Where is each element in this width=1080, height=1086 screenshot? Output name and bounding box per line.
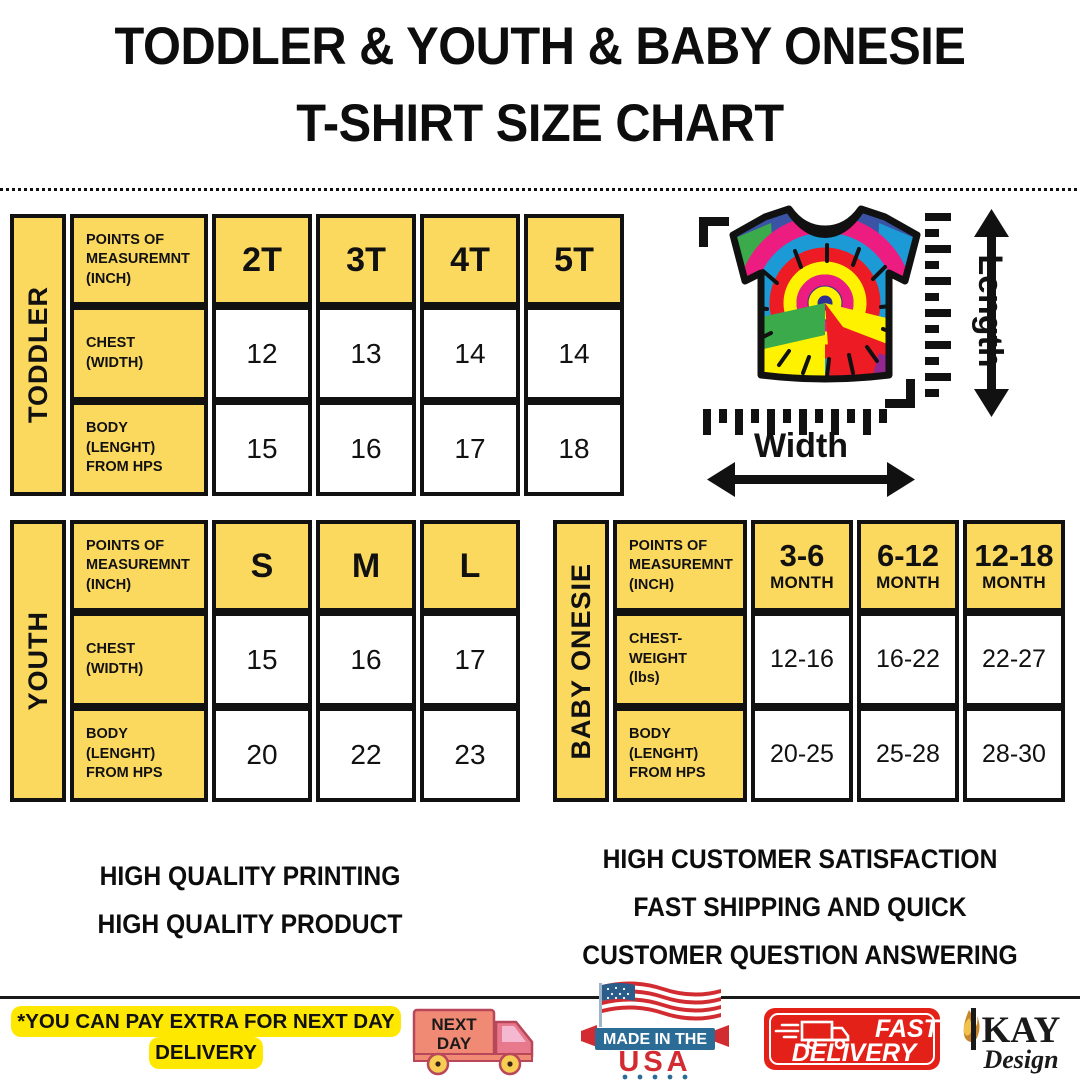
toddler-size-header-2t: 2T	[212, 214, 312, 306]
table-row: CHEST (WIDTH) 15 16 17	[70, 612, 524, 707]
row-label-line-2: (WIDTH)	[86, 354, 143, 373]
next-day-note: *YOU CAN PAY EXTRA FOR NEXT DAY DELIVERY	[4, 1006, 408, 1069]
baby-size-header-3-6: 3-6 MONTH	[751, 520, 853, 612]
toddler-row-label-chest: CHEST (WIDTH)	[70, 306, 208, 401]
youth-size-header-l: L	[420, 520, 520, 612]
measure-line-3: (INCH)	[86, 576, 131, 595]
promo-left-line-2: HIGH QUALITY PRODUCT	[18, 900, 483, 948]
toddler-body-2t: 15	[212, 401, 312, 496]
promo-left-line-1: HIGH QUALITY PRINTING	[18, 852, 483, 900]
baby-row-label-body: BODY (LENGHT) FROM HPS	[613, 707, 747, 802]
baby-grid: POINTS OF MEASUREMNT (INCH) 3-6 MONTH 6-…	[613, 520, 1069, 802]
truck-badge-line-1: NEXT	[431, 1015, 477, 1034]
youth-chest-l: 17	[420, 612, 520, 707]
baby-category-cell: BABY ONESIE	[553, 520, 609, 802]
measure-line-2: MEASUREMNT	[86, 250, 190, 269]
table-row: POINTS OF MEASUREMNT (INCH) S M L	[70, 520, 524, 612]
row-label-line-2: (LENGHT)	[86, 439, 155, 458]
row-label-line-3: FROM HPS	[86, 458, 163, 477]
row-label-line-1: BODY	[629, 725, 671, 744]
youth-chest-s: 15	[212, 612, 312, 707]
table-row: BODY (LENGHT) FROM HPS 20 22 23	[70, 707, 524, 802]
measure-line-1: POINTS OF	[86, 537, 164, 556]
youth-body-m: 22	[316, 707, 416, 802]
table-row: POINTS OF MEASUREMNT (INCH) 3-6 MONTH 6-…	[613, 520, 1069, 612]
youth-body-s: 20	[212, 707, 312, 802]
kay-design-logo: KAY Design	[955, 1002, 1075, 1081]
youth-measurement-header: POINTS OF MEASUREMNT (INCH)	[70, 520, 208, 612]
row-label-line-1: CHEST	[86, 334, 135, 353]
youth-grid: POINTS OF MEASUREMNT (INCH) S M L CHEST …	[70, 520, 524, 802]
made-in-usa-badge: MADE IN THE USA	[575, 981, 735, 1086]
title-line-1: TODDLER & YOUTH & BABY ONESIE	[43, 18, 1037, 75]
baby-body-12-18: 28-30	[963, 707, 1065, 802]
row-label-line-3: (lbs)	[629, 669, 660, 688]
next-day-truck-badge: NEXT DAY	[410, 1004, 560, 1081]
row-label-line-2: (LENGHT)	[629, 745, 698, 764]
youth-category-label: YOUTH	[23, 611, 54, 711]
youth-chest-m: 16	[316, 612, 416, 707]
toddler-chest-5t: 14	[524, 306, 624, 401]
youth-row-label-chest: CHEST (WIDTH)	[70, 612, 208, 707]
youth-body-l: 23	[420, 707, 520, 802]
toddler-size-header-3t: 3T	[316, 214, 416, 306]
row-label-line-3: FROM HPS	[629, 764, 706, 783]
baby-body-6-12: 25-28	[857, 707, 959, 802]
measure-line-1: POINTS OF	[86, 231, 164, 250]
size-chart-page: TODDLER & YOUTH & BABY ONESIE T-SHIRT SI…	[0, 0, 1080, 1080]
baby-size-header-6-12: 6-12 MONTH	[857, 520, 959, 612]
youth-size-header-m: M	[316, 520, 416, 612]
promo-right-line-3: CUSTOMER QUESTION ANSWERING	[540, 931, 1061, 979]
table-row: POINTS OF MEASUREMNT (INCH) 2T 3T 4T 5T	[70, 214, 628, 306]
toddler-size-header-5t: 5T	[524, 214, 624, 306]
tie-dye-shirt-icon	[723, 203, 933, 393]
toddler-category-label: TODDLER	[23, 286, 54, 423]
toddler-chest-2t: 12	[212, 306, 312, 401]
promo-right-line-1: HIGH CUSTOMER SATISFACTION	[540, 835, 1061, 883]
usa-badge-bottom-label: USA	[618, 1046, 691, 1078]
toddler-size-table: TODDLER POINTS OF MEASUREMNT (INCH) 2T 3…	[10, 214, 628, 496]
us-flag-icon	[599, 981, 721, 1027]
toddler-grid: POINTS OF MEASUREMNT (INCH) 2T 3T 4T 5T	[70, 214, 628, 496]
row-label-line-1: CHEST-	[629, 630, 682, 649]
toddler-row-label-body: BODY (LENGHT) FROM HPS	[70, 401, 208, 496]
logo-sub-text: Design	[982, 1045, 1058, 1074]
baby-chest-3-6: 12-16	[751, 612, 853, 707]
toddler-body-3t: 16	[316, 401, 416, 496]
measure-line-2: MEASUREMNT	[86, 556, 190, 575]
youth-row-label-body: BODY (LENGHT) FROM HPS	[70, 707, 208, 802]
baby-measurement-header: POINTS OF MEASUREMNT (INCH)	[613, 520, 747, 612]
fast-delivery-badge: FAST DELIVERY	[762, 1006, 942, 1077]
promo-right-line-2: FAST SHIPPING AND QUICK	[540, 883, 1061, 931]
toddler-chest-4t: 14	[420, 306, 520, 401]
table-row: BODY (LENGHT) FROM HPS 20-25 25-28 28-30	[613, 707, 1069, 802]
length-ruler	[925, 213, 951, 397]
promo-left: HIGH QUALITY PRINTING HIGH QUALITY PRODU…	[18, 852, 483, 948]
baby-category-label: BABY ONESIE	[566, 563, 597, 760]
baby-body-3-6: 20-25	[751, 707, 853, 802]
toddler-category-cell: TODDLER	[10, 214, 66, 496]
measure-line-3: (INCH)	[86, 270, 131, 289]
baby-onesie-size-table: BABY ONESIE POINTS OF MEASUREMNT (INCH) …	[553, 520, 1069, 802]
title-line-2: T-SHIRT SIZE CHART	[43, 95, 1037, 152]
baby-chest-12-18: 22-27	[963, 612, 1065, 707]
next-day-note-line-1: *YOU CAN PAY EXTRA FOR NEXT DAY	[11, 1006, 400, 1037]
truck-badge-line-2: DAY	[437, 1034, 472, 1053]
row-label-line-2: (WIDTH)	[86, 660, 143, 679]
measure-line-3: (INCH)	[629, 576, 674, 595]
row-label-line-2: (LENGHT)	[86, 745, 155, 764]
measurement-diagram: Length Width	[693, 203, 1013, 503]
promo-right: HIGH CUSTOMER SATISFACTION FAST SHIPPING…	[540, 835, 1061, 980]
row-label-line-3: FROM HPS	[86, 764, 163, 783]
next-day-note-line-2: DELIVERY	[149, 1037, 263, 1068]
footer-bar: *YOU CAN PAY EXTRA FOR NEXT DAY DELIVERY…	[0, 999, 1080, 1080]
youth-size-header-s: S	[212, 520, 312, 612]
width-arrow-icon	[707, 462, 915, 497]
page-title: TODDLER & YOUTH & BABY ONESIE T-SHIRT SI…	[0, 18, 1080, 152]
width-label: Width	[754, 427, 848, 465]
toddler-measurement-header: POINTS OF MEASUREMNT (INCH)	[70, 214, 208, 306]
row-label-line-1: CHEST	[86, 640, 135, 659]
youth-size-table: YOUTH POINTS OF MEASUREMNT (INCH) S M L	[10, 520, 524, 802]
baby-chest-6-12: 16-22	[857, 612, 959, 707]
toddler-size-header-4t: 4T	[420, 214, 520, 306]
table-row: CHEST (WIDTH) 12 13 14 14	[70, 306, 628, 401]
measure-line-2: MEASUREMNT	[629, 556, 733, 575]
header-divider	[0, 188, 1080, 191]
row-label-line-1: BODY	[86, 725, 128, 744]
youth-category-cell: YOUTH	[10, 520, 66, 802]
toddler-chest-3t: 13	[316, 306, 416, 401]
toddler-body-4t: 17	[420, 401, 520, 496]
measure-line-1: POINTS OF	[629, 537, 707, 556]
baby-row-label-chest-weight: CHEST- WEIGHT (lbs)	[613, 612, 747, 707]
row-label-line-2: WEIGHT	[629, 650, 687, 669]
table-row: BODY (LENGHT) FROM HPS 15 16 17 18	[70, 401, 628, 496]
row-label-line-1: BODY	[86, 419, 128, 438]
toddler-body-5t: 18	[524, 401, 624, 496]
table-row: CHEST- WEIGHT (lbs) 12-16 16-22 22-27	[613, 612, 1069, 707]
fast-badge-line-2: DELIVERY	[792, 1039, 919, 1067]
baby-size-header-12-18: 12-18 MONTH	[963, 520, 1065, 612]
